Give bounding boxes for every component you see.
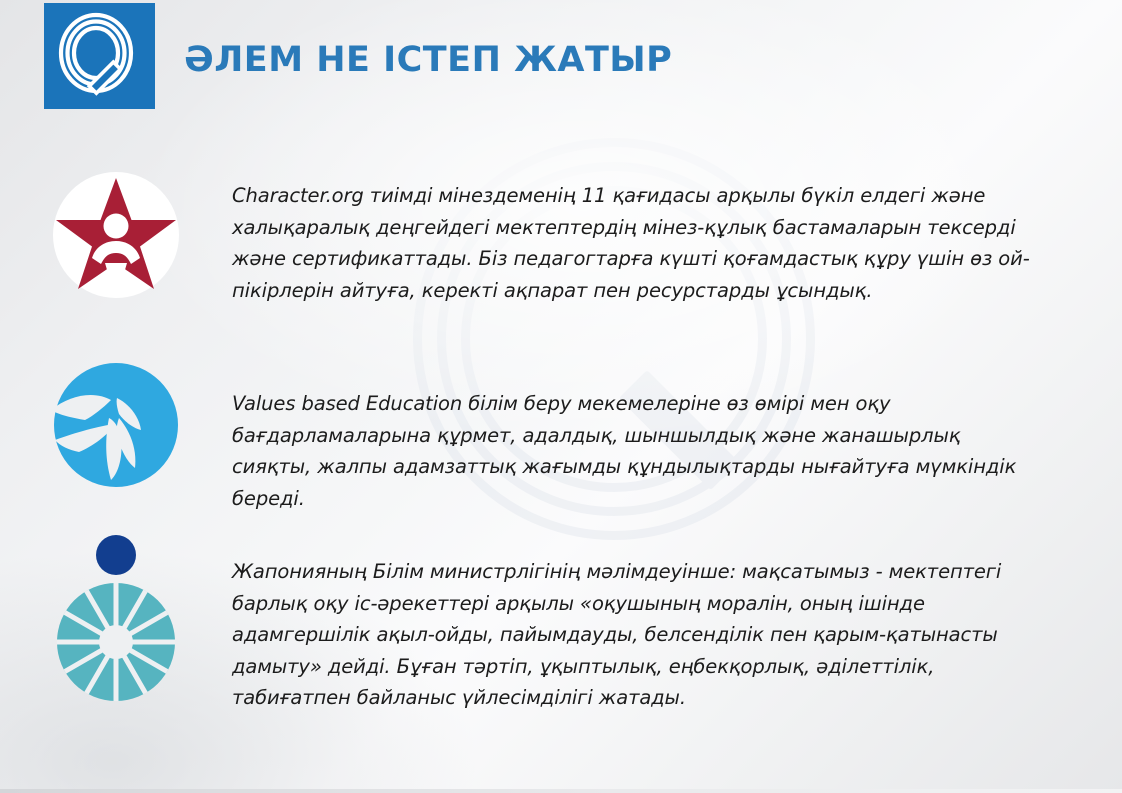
- text-cell: Values based Education білім беру мекеме…: [232, 358, 1122, 514]
- icon-cell: [0, 168, 232, 306]
- slide-canvas: ӘЛЕМ НЕ ІСТЕП ЖАТЫР Character.org тиімді…: [0, 0, 1122, 793]
- content-row: Character.org тиімді мінездеменің 11 қағ…: [0, 168, 1122, 306]
- text-cell: Character.org тиімді мінездеменің 11 қағ…: [232, 168, 1122, 306]
- paragraph-japan-mext: Жапонияның Білім министрлігінің мәлімдеу…: [232, 532, 1032, 714]
- character-org-star-person-icon: [49, 168, 183, 306]
- text-cell: Жапонияның Білім министрлігінің мәлімдеу…: [232, 532, 1122, 714]
- paragraph-character-org: Character.org тиімді мінездеменің 11 қағ…: [232, 168, 1032, 306]
- bottom-accent-strip: [0, 789, 1122, 793]
- icon-cell: [0, 532, 232, 708]
- icon-cell: [0, 358, 232, 496]
- paragraph-values-based-education: Values based Education білім беру мекеме…: [232, 358, 1032, 514]
- magnifier-q-logo-icon: [44, 3, 155, 109]
- values-based-education-hands-circle-icon: [49, 358, 183, 496]
- content-row: Жапонияның Білім министрлігінің мәлімдеу…: [0, 532, 1122, 714]
- japan-mext-wheel-icon: [49, 532, 183, 708]
- content-row: Values based Education білім беру мекеме…: [0, 358, 1122, 514]
- slide-header: ӘЛЕМ НЕ ІСТЕП ЖАТЫР: [0, 0, 1122, 130]
- page-title: ӘЛЕМ НЕ ІСТЕП ЖАТЫР: [184, 40, 672, 80]
